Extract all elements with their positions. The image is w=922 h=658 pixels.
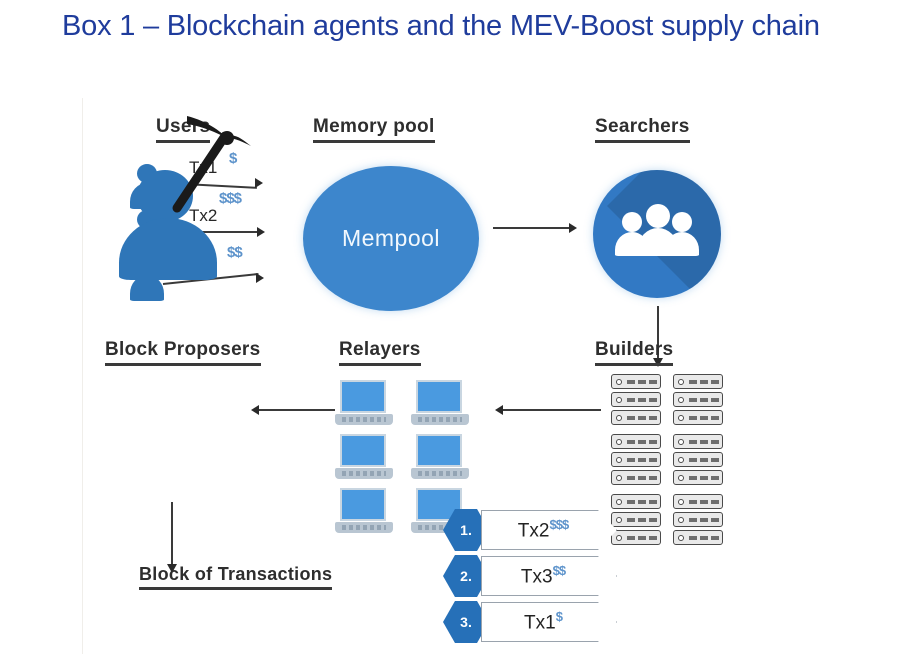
server-unit: [673, 410, 723, 425]
tx-chevron-3-fee: $: [556, 609, 562, 624]
person-center-icon: [638, 204, 678, 256]
section-label-builders: Builders: [595, 339, 673, 366]
section-label-block-of-transactions: Block of Transactions: [139, 564, 332, 590]
tx-chevron-2-fee: $$: [553, 563, 565, 578]
server-unit: [611, 410, 661, 425]
section-label-memory-pool: Memory pool: [313, 116, 435, 143]
mempool-node-label: Mempool: [342, 225, 440, 252]
server-unit: [673, 470, 723, 485]
builder-server-6: [673, 494, 723, 546]
laptop-base: [335, 414, 393, 425]
tx-chevron-1-name: Tx2: [518, 521, 550, 542]
proposer-body: [119, 218, 217, 280]
mempool-node: Mempool: [303, 166, 479, 311]
builder-server-3: [611, 434, 661, 486]
section-label-relayers: Relayers: [339, 339, 421, 366]
relayer-laptop-1: [335, 380, 393, 430]
laptop-base: [411, 414, 469, 425]
ordered-tx-row-2[interactable]: 2. Tx3$$: [443, 555, 633, 597]
tx3-fee: $$: [227, 244, 242, 261]
arrow-relayers-to-proposers: [251, 404, 337, 416]
server-unit: [673, 512, 723, 527]
tx-chevron-2-text: Tx3$$: [521, 563, 565, 588]
laptop-screen: [416, 380, 462, 413]
page-title: Box 1 – Blockchain agents and the MEV-Bo…: [62, 8, 852, 45]
laptop-base: [335, 468, 393, 479]
laptop-screen: [340, 488, 386, 521]
ordered-tx-row-3[interactable]: 3. Tx1$: [443, 601, 633, 643]
builder-server-2: [673, 374, 723, 426]
tx-chevron-1: Tx2$$$: [481, 510, 617, 550]
relayer-laptop-5: [335, 488, 393, 538]
server-unit: [611, 494, 661, 509]
relayer-laptop-3: [335, 434, 393, 484]
tx-chevron-2: Tx3$$: [481, 556, 617, 596]
server-unit: [673, 452, 723, 467]
tx-chevron-3-name: Tx1: [524, 613, 556, 634]
laptop-base: [411, 468, 469, 479]
searchers-icon: [593, 170, 721, 298]
mev-boost-supply-chain-diagram: Users Tx1 $ Tx2 $$$ Tx3 $$ Memory pool M…: [82, 98, 842, 654]
section-label-searchers: Searchers: [595, 116, 690, 143]
server-unit: [673, 494, 723, 509]
builder-server-4: [673, 434, 723, 486]
laptop-base: [335, 522, 393, 533]
server-unit: [673, 392, 723, 407]
server-unit: [611, 434, 661, 449]
tx-chevron-1-fee: $$$: [549, 517, 568, 532]
ordered-tx-row-1[interactable]: 1. Tx2$$$: [443, 509, 633, 551]
builder-server-1: [611, 374, 661, 426]
server-unit: [673, 374, 723, 389]
tx-chevron-1-text: Tx2$$$: [518, 517, 568, 542]
section-label-block-proposers: Block Proposers: [105, 339, 261, 366]
arrow-builders-to-relayers: [495, 404, 603, 416]
server-unit: [611, 374, 661, 389]
relayer-laptop-4: [411, 434, 469, 484]
server-unit: [611, 452, 661, 467]
arrow-mempool-to-searchers: [493, 222, 581, 234]
laptop-screen: [340, 434, 386, 467]
tx-chevron-2-name: Tx3: [521, 567, 553, 588]
pickaxe-icon: [165, 108, 255, 218]
server-unit: [611, 470, 661, 485]
tx-chevron-3-text: Tx1$: [524, 609, 562, 634]
laptop-screen: [416, 434, 462, 467]
server-unit: [673, 434, 723, 449]
relayer-laptop-2: [411, 380, 469, 430]
tx-chevron-3: Tx1$: [481, 602, 617, 642]
laptop-screen: [340, 380, 386, 413]
server-unit: [673, 530, 723, 545]
server-unit: [611, 392, 661, 407]
